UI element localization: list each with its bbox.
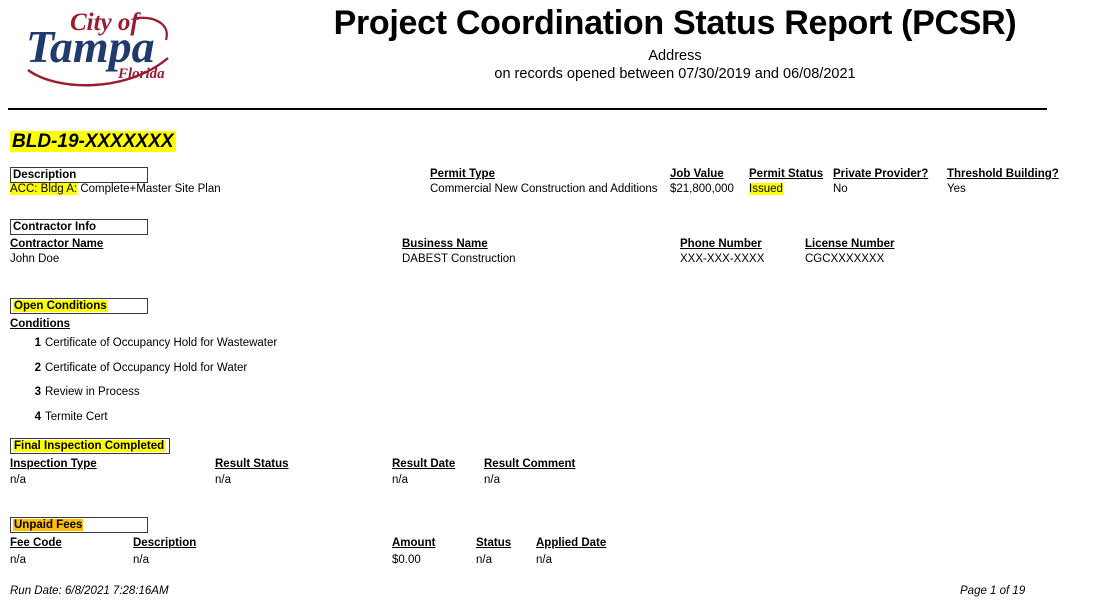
fee-code-label: Fee Code <box>10 537 62 549</box>
license-number-label: License Number <box>805 238 894 250</box>
page-title: Project Coordination Status Report (PCSR… <box>300 4 1050 43</box>
fee-status-label: Status <box>476 537 511 549</box>
contractor-name-value: John Doe <box>10 253 59 265</box>
report-subtitle: Address <box>300 48 1050 64</box>
business-name-value: DABEST Construction <box>402 253 516 265</box>
condition-text: Review in Process <box>45 386 140 398</box>
section-header-contractor-info: Contractor Info <box>10 219 148 235</box>
job-value-label: Job Value <box>670 168 724 180</box>
fee-applied-date-value: n/a <box>536 554 552 566</box>
svg-text:Tampa: Tampa <box>26 21 155 72</box>
description-rest: Complete+Master Site Plan <box>77 183 221 195</box>
footer-run-date: Run Date: 6/8/2021 7:28:16AM <box>10 585 169 597</box>
condition-text: Certificate of Occupancy Hold for Wastew… <box>45 337 277 349</box>
private-provider-value: No <box>833 183 848 195</box>
list-item: 2 Certificate of Occupancy Hold for Wate… <box>27 362 277 387</box>
permit-status-value: Issued <box>749 183 783 195</box>
section-header-final-inspection-label: Final Inspection Completed <box>13 440 165 452</box>
section-header-contractor-info-label: Contractor Info <box>13 221 96 233</box>
section-header-description-label: Description <box>13 169 76 181</box>
section-header-description: Description <box>10 167 148 183</box>
inspection-type-label: Inspection Type <box>10 458 97 470</box>
section-header-open-conditions-label: Open Conditions <box>13 300 108 312</box>
conditions-column-label: Conditions <box>10 318 70 330</box>
fee-amount-value: $0.00 <box>392 554 421 566</box>
result-comment-label: Result Comment <box>484 458 575 470</box>
conditions-list: 1 Certificate of Occupancy Hold for Wast… <box>27 337 277 435</box>
condition-number: 2 <box>27 362 41 374</box>
permit-status-label: Permit Status <box>749 168 823 180</box>
condition-number: 3 <box>27 386 41 398</box>
permit-type-label: Permit Type <box>430 168 495 180</box>
condition-text: Termite Cert <box>45 411 108 423</box>
permit-id: BLD-19-XXXXXXX <box>10 131 176 152</box>
description-highlight: ACC: Bldg A: <box>10 183 77 195</box>
job-value-value: $21,800,000 <box>670 183 734 195</box>
fee-description-label: Description <box>133 537 196 549</box>
section-header-open-conditions: Open Conditions <box>10 298 148 314</box>
permit-type-value: Commercial New Construction and Addition… <box>430 183 658 195</box>
section-header-unpaid-fees: Unpaid Fees <box>10 517 148 533</box>
result-status-label: Result Status <box>215 458 289 470</box>
svg-text:Florida: Florida <box>117 66 165 82</box>
description-value: ACC: Bldg A: Complete+Master Site Plan <box>10 183 221 195</box>
threshold-building-label: Threshold Building? <box>947 168 1059 180</box>
section-header-unpaid-fees-label: Unpaid Fees <box>13 519 83 531</box>
result-comment-value: n/a <box>484 474 500 486</box>
list-item: 4 Termite Cert <box>27 411 277 436</box>
fee-applied-date-label: Applied Date <box>536 537 606 549</box>
phone-number-value: XXX-XXX-XXXX <box>680 253 764 265</box>
business-name-label: Business Name <box>402 238 488 250</box>
result-status-value: n/a <box>215 474 231 486</box>
fee-status-value: n/a <box>476 554 492 566</box>
permit-status-badge: Issued <box>749 183 783 195</box>
list-item: 1 Certificate of Occupancy Hold for Wast… <box>27 337 277 362</box>
fee-description-value: n/a <box>133 554 149 566</box>
license-number-value: CGCXXXXXXX <box>805 253 884 265</box>
contractor-name-label: Contractor Name <box>10 238 103 250</box>
condition-text: Certificate of Occupancy Hold for Water <box>45 362 247 374</box>
inspection-type-value: n/a <box>10 474 26 486</box>
condition-number: 4 <box>27 411 41 423</box>
private-provider-label: Private Provider? <box>833 168 928 180</box>
threshold-building-value: Yes <box>947 183 966 195</box>
fee-code-value: n/a <box>10 554 26 566</box>
city-of-tampa-logo: City of Tampa Florida <box>18 0 188 98</box>
footer-page-number: Page 1 of 19 <box>960 585 1025 597</box>
report-date-range: on records opened between 07/30/2019 and… <box>300 66 1050 82</box>
header-divider <box>8 108 1047 110</box>
list-item: 3 Review in Process <box>27 386 277 411</box>
result-date-label: Result Date <box>392 458 455 470</box>
condition-number: 1 <box>27 337 41 349</box>
phone-number-label: Phone Number <box>680 238 762 250</box>
result-date-value: n/a <box>392 474 408 486</box>
fee-amount-label: Amount <box>392 537 435 549</box>
section-header-final-inspection: Final Inspection Completed <box>10 438 170 454</box>
